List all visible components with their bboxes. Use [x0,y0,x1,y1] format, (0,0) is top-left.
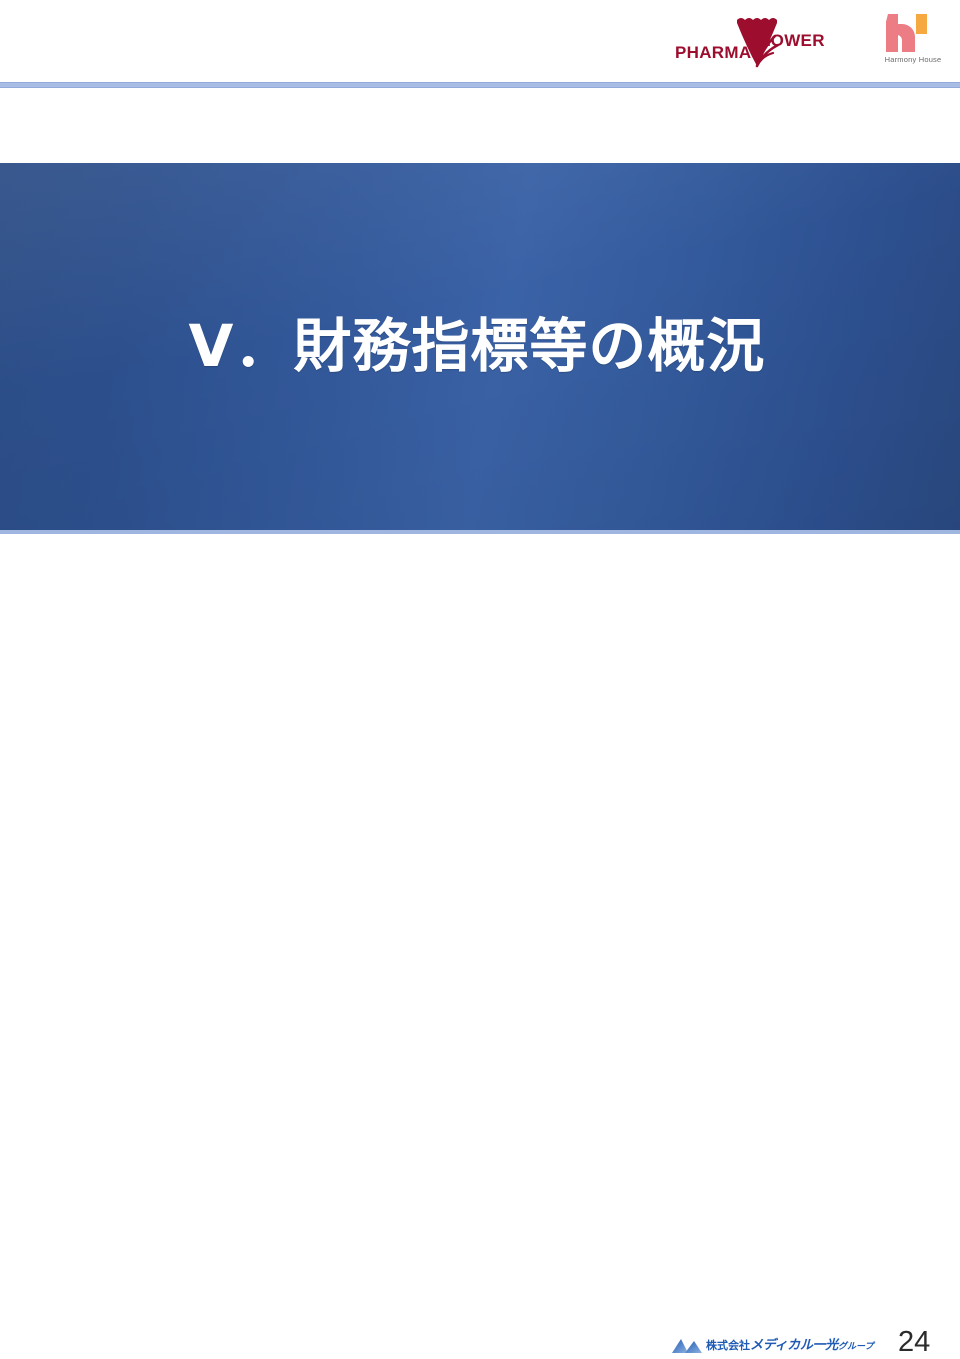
blue-triangle-mark-icon [672,1336,702,1354]
corporate-logo: 株式会社メディカル一光グループ [672,1332,873,1358]
slide-footer: 株式会社メディカル一光グループ 24 [0,660,960,720]
page-number: 24 [898,1328,930,1357]
harmony-house-logo: Harmony House [880,14,946,72]
header-divider [0,82,960,88]
harmony-house-h-icon [886,14,930,52]
pharmacy-flower-text-right: LOWER [760,32,825,49]
header-logo-bar: PHARMAC LOWER Harmon [0,0,960,82]
section-title-band-underline [0,530,960,534]
page-title-text: Ⅴ．財務指標等の概況 [189,315,772,379]
corporate-logo-name: メディカル一光 [750,1338,838,1353]
page-title: Ⅴ．財務指標等の概況 [0,163,960,530]
corporate-logo-kk: 株式会社 [706,1339,750,1352]
slide-canvas: PHARMAC LOWER Harmon [0,0,960,720]
corporate-logo-suffix: グループ [838,1342,873,1352]
corporate-logo-text: 株式会社メディカル一光グループ [706,1339,873,1352]
pharmacy-flower-logo: PHARMAC LOWER [675,14,835,70]
harmony-house-caption: Harmony House [880,55,946,64]
